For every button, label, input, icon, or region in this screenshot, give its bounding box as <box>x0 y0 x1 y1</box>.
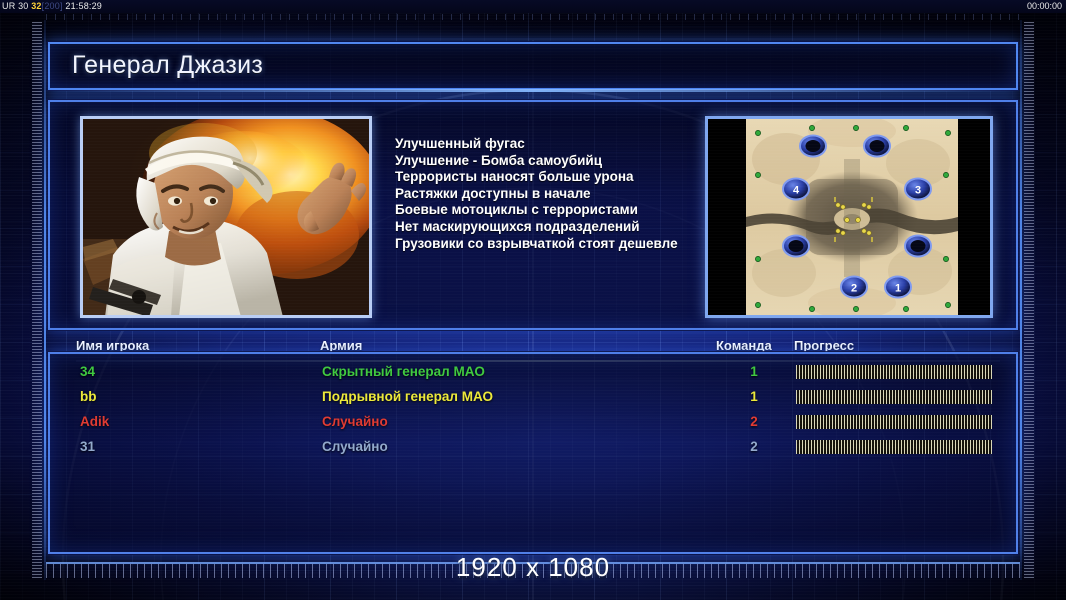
map-preview-image: 4 3 2 1 <box>746 119 958 315</box>
general-info-panel: Улучшенный фугас Улучшение - Бомба самоу… <box>48 100 1018 330</box>
player-team: 2 <box>740 414 768 429</box>
status-dim: [200] <box>42 1 63 11</box>
description-line: Улучшение - Бомба самоубийц <box>395 153 730 170</box>
right-edge-line <box>1020 20 1022 580</box>
map-preview-panel[interactable]: 4 3 2 1 <box>705 116 993 318</box>
left-edge-line <box>44 20 46 580</box>
player-progress-fill <box>796 365 992 379</box>
status-prefix: UR 30 <box>2 1 31 11</box>
player-progress-bar <box>796 365 992 379</box>
general-description-list: Улучшенный фугас Улучшение - Бомба самоу… <box>395 136 730 252</box>
player-progress-fill <box>796 440 992 454</box>
status-highlight: 32 <box>31 1 41 11</box>
player-progress-bar <box>796 390 992 404</box>
player-army: Случайно <box>322 439 388 454</box>
description-line: Грузовики со взрывчаткой стоят дешевле <box>395 236 730 253</box>
description-line: Нет маскирующихся подразделений <box>395 219 730 236</box>
portrait-artwork <box>83 119 369 315</box>
status-left-readout: UR 30 32[200] 21:58:29 <box>2 0 102 13</box>
title-underglow <box>50 89 1016 92</box>
table-row[interactable]: 34Скрытный генерал МАО1 <box>50 362 1020 386</box>
player-name: bb <box>80 389 97 404</box>
player-team: 2 <box>740 439 768 454</box>
status-right-timer: 00:00:00 <box>1027 0 1062 13</box>
player-army: Подрывной генерал МАО <box>322 389 493 404</box>
table-row[interactable]: AdikСлучайно2 <box>50 412 1020 436</box>
player-team: 1 <box>740 364 768 379</box>
column-header-team: Команда <box>716 338 772 353</box>
table-row[interactable]: 31Случайно2 <box>50 437 1020 461</box>
title-panel: Генерал Джазиз <box>48 42 1018 90</box>
player-name: 31 <box>80 439 95 454</box>
svg-text:2: 2 <box>851 283 857 295</box>
description-line: Растяжки доступны в начале <box>395 186 730 203</box>
top-ruler-strip <box>46 14 1020 20</box>
svg-text:3: 3 <box>915 185 921 197</box>
resolution-readout: 1920 x 1080 <box>0 552 1066 583</box>
player-name: Adik <box>80 414 109 429</box>
game-options-screen: UR 30 32[200] 21:58:29 00:00:00 Генерал … <box>0 0 1066 600</box>
svg-text:1: 1 <box>895 283 901 295</box>
column-header-player: Имя игрока <box>76 338 149 353</box>
description-line: Улучшенный фугас <box>395 136 730 153</box>
top-status-bar: UR 30 32[200] 21:58:29 00:00:00 <box>0 0 1066 13</box>
status-time: 21:58:29 <box>63 1 102 11</box>
page-title: Генерал Джазиз <box>72 51 263 80</box>
general-portrait <box>80 116 372 318</box>
svg-text:4: 4 <box>793 185 800 197</box>
right-ribbed-strip <box>1024 22 1034 578</box>
player-army: Случайно <box>322 414 388 429</box>
portrait-image <box>83 119 369 315</box>
player-progress-fill <box>796 390 992 404</box>
table-row[interactable]: bbПодрывной генерал МАО1 <box>50 387 1020 411</box>
description-line: Боевые мотоциклы с террористами <box>395 202 730 219</box>
left-ribbed-strip <box>32 22 42 578</box>
column-header-progress: Прогресс <box>794 338 854 353</box>
player-progress-fill <box>796 415 992 429</box>
player-team: 1 <box>740 389 768 404</box>
player-progress-bar <box>796 415 992 429</box>
column-header-army: Армия <box>320 338 362 353</box>
player-list-panel: 34Скрытный генерал МАО1bbПодрывной генер… <box>48 352 1018 554</box>
player-name: 34 <box>80 364 95 379</box>
player-progress-bar <box>796 440 992 454</box>
player-army: Скрытный генерал МАО <box>322 364 485 379</box>
description-line: Террористы наносят больше урона <box>395 169 730 186</box>
